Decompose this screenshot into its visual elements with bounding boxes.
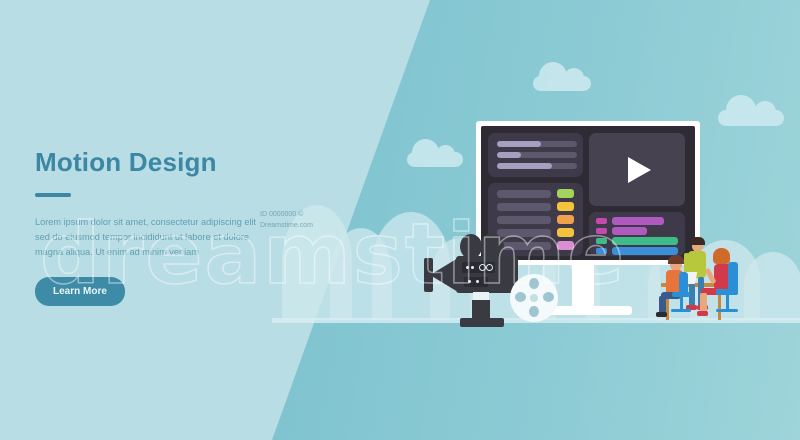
video-preview-panel[interactable] [589, 133, 685, 206]
text-line-fill [497, 163, 552, 169]
camera-dial-panel [462, 262, 495, 273]
camera-button-panel [464, 277, 488, 287]
layer-color-swatch[interactable] [557, 241, 574, 250]
text-lines-panel[interactable] [488, 133, 583, 177]
camera-dot [476, 280, 479, 283]
illustration-canvas: Motion Design Lorem ipsum dolor sit amet… [0, 0, 800, 440]
layer-color-swatch[interactable] [557, 189, 574, 198]
monitor-stand-neck [572, 265, 594, 309]
camera-dot [468, 280, 471, 283]
timeline-bar[interactable] [612, 237, 678, 245]
hero-paragraph: Lorem ipsum dolor sit amet, consectetur … [35, 215, 267, 261]
timeline-panel[interactable] [589, 212, 685, 256]
camera-dot [471, 266, 474, 269]
movie-camera-icon [416, 232, 536, 332]
bush-shape [744, 252, 800, 320]
title-underline-rule [35, 193, 71, 197]
camera-lens [430, 258, 458, 292]
film-reel-icon [510, 274, 558, 322]
camera-ring [486, 264, 493, 271]
cloud-icon-top-right [718, 110, 784, 126]
layer-color-swatch[interactable] [557, 202, 574, 211]
layer-color-swatch[interactable] [557, 215, 574, 224]
cloud-icon-top-center [533, 76, 591, 91]
timeline-bar[interactable] [612, 247, 678, 255]
layer-row-track [497, 203, 551, 211]
camera-ring [479, 264, 486, 271]
camera-foot [460, 318, 504, 327]
timeline-tag[interactable] [596, 238, 607, 244]
timeline-bar[interactable] [612, 217, 664, 225]
layer-row-track [497, 216, 551, 224]
timeline-bar[interactable] [612, 227, 647, 235]
camera-stem [472, 300, 490, 320]
text-line-fill [497, 141, 541, 147]
page-title: Motion Design [35, 148, 285, 177]
layer-row-track [497, 190, 551, 198]
timeline-tag[interactable] [596, 218, 607, 224]
play-icon[interactable] [628, 157, 651, 183]
camera-dot [466, 266, 469, 269]
timeline-tag[interactable] [596, 228, 607, 234]
camera-lens-hood [424, 258, 433, 292]
learn-more-button[interactable]: Learn More [35, 277, 125, 306]
hero-copy-block: Motion Design Lorem ipsum dolor sit amet… [35, 148, 285, 306]
layer-color-swatch[interactable] [557, 228, 574, 237]
timeline-tag[interactable] [596, 248, 607, 254]
cloud-icon-left [407, 152, 463, 167]
text-line-fill [497, 152, 521, 158]
